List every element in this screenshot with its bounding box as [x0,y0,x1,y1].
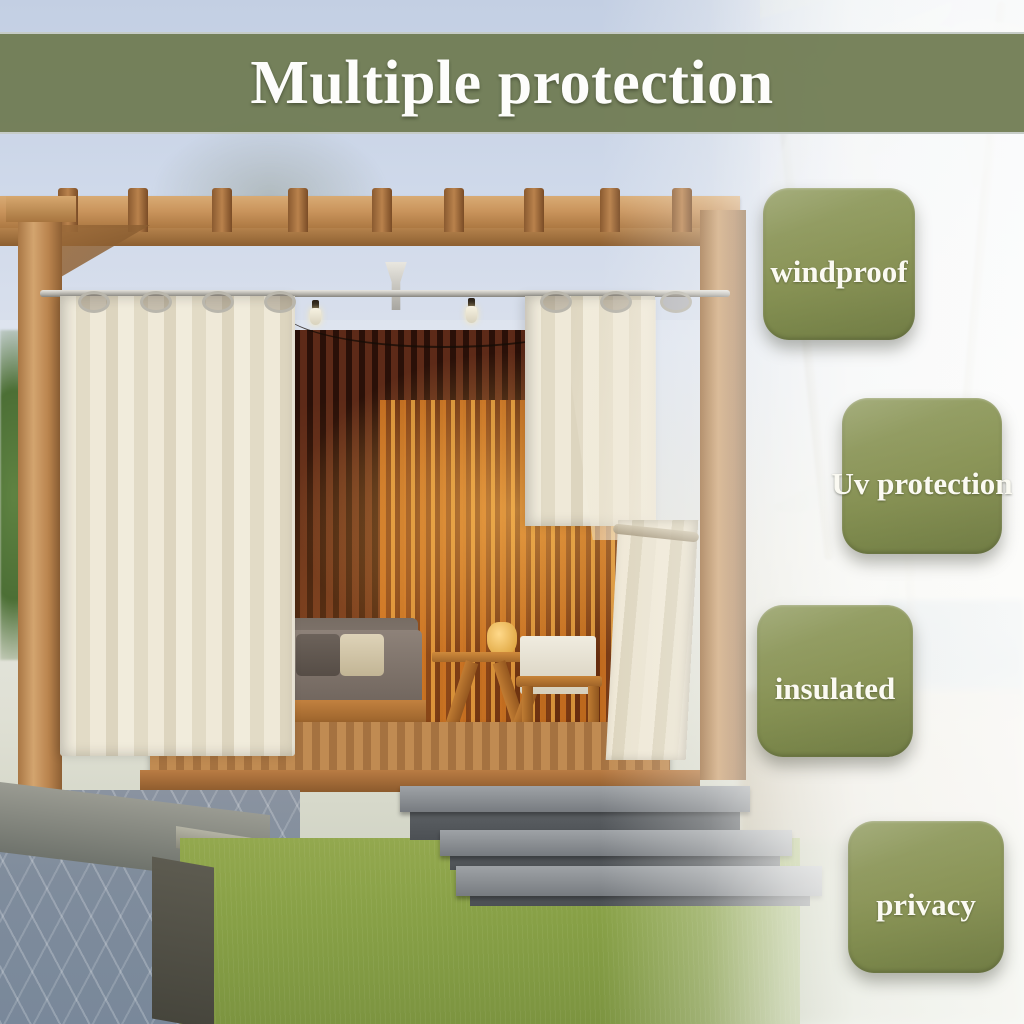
pergola-top-beam [0,196,740,230]
sofa-cushion [340,634,384,676]
pergola-left-post [18,210,62,810]
curtain-grommet-icon [660,291,692,313]
curtain-grommet-icon [78,291,110,313]
pergola-rafter [212,188,232,232]
left-curtain-panel [60,296,295,756]
stone-step-bottom [456,866,822,896]
pergola-rafter [600,188,620,232]
curtain-grommet-icon [264,291,296,313]
pergola-left-post-cap [6,196,76,222]
curtain-grommet-icon [600,291,632,313]
product-feature-image: Multiple protection windproof Uv protect… [0,0,1024,1024]
curtain-grommet-icon [540,291,572,313]
feature-badge-label: insulated [775,671,896,707]
feature-badge-insulated[interactable]: insulated [757,605,913,757]
feature-badge-label: Uv protection [831,466,1012,502]
feature-badge-privacy[interactable]: privacy [848,821,1004,973]
feature-badge-windproof[interactable]: windproof [763,188,915,340]
pergola-rafter [672,188,692,232]
feature-badge-label: privacy [876,887,976,923]
string-light-bulb-icon [466,306,477,323]
curtain-grommet-icon [202,291,234,313]
right-curtain-lower [606,520,699,760]
table-vase [487,622,517,656]
pergola-rafter [524,188,544,232]
curtain-grommet-icon [140,291,172,313]
stone-step-middle [440,830,792,856]
feature-badge-label: windproof [770,254,907,290]
sofa-cushion [296,634,340,676]
header-banner: Multiple protection [0,32,1024,134]
pergola-rafter [288,188,308,232]
pergola-rafter [372,188,392,232]
drainage-trough [152,857,214,1024]
stone-step-top [400,786,750,812]
feature-badge-uv-protection[interactable]: Uv protection [842,398,1002,554]
string-light-bulb-icon [310,308,321,325]
pergola-rafter [444,188,464,232]
page-title: Multiple protection [250,48,773,119]
